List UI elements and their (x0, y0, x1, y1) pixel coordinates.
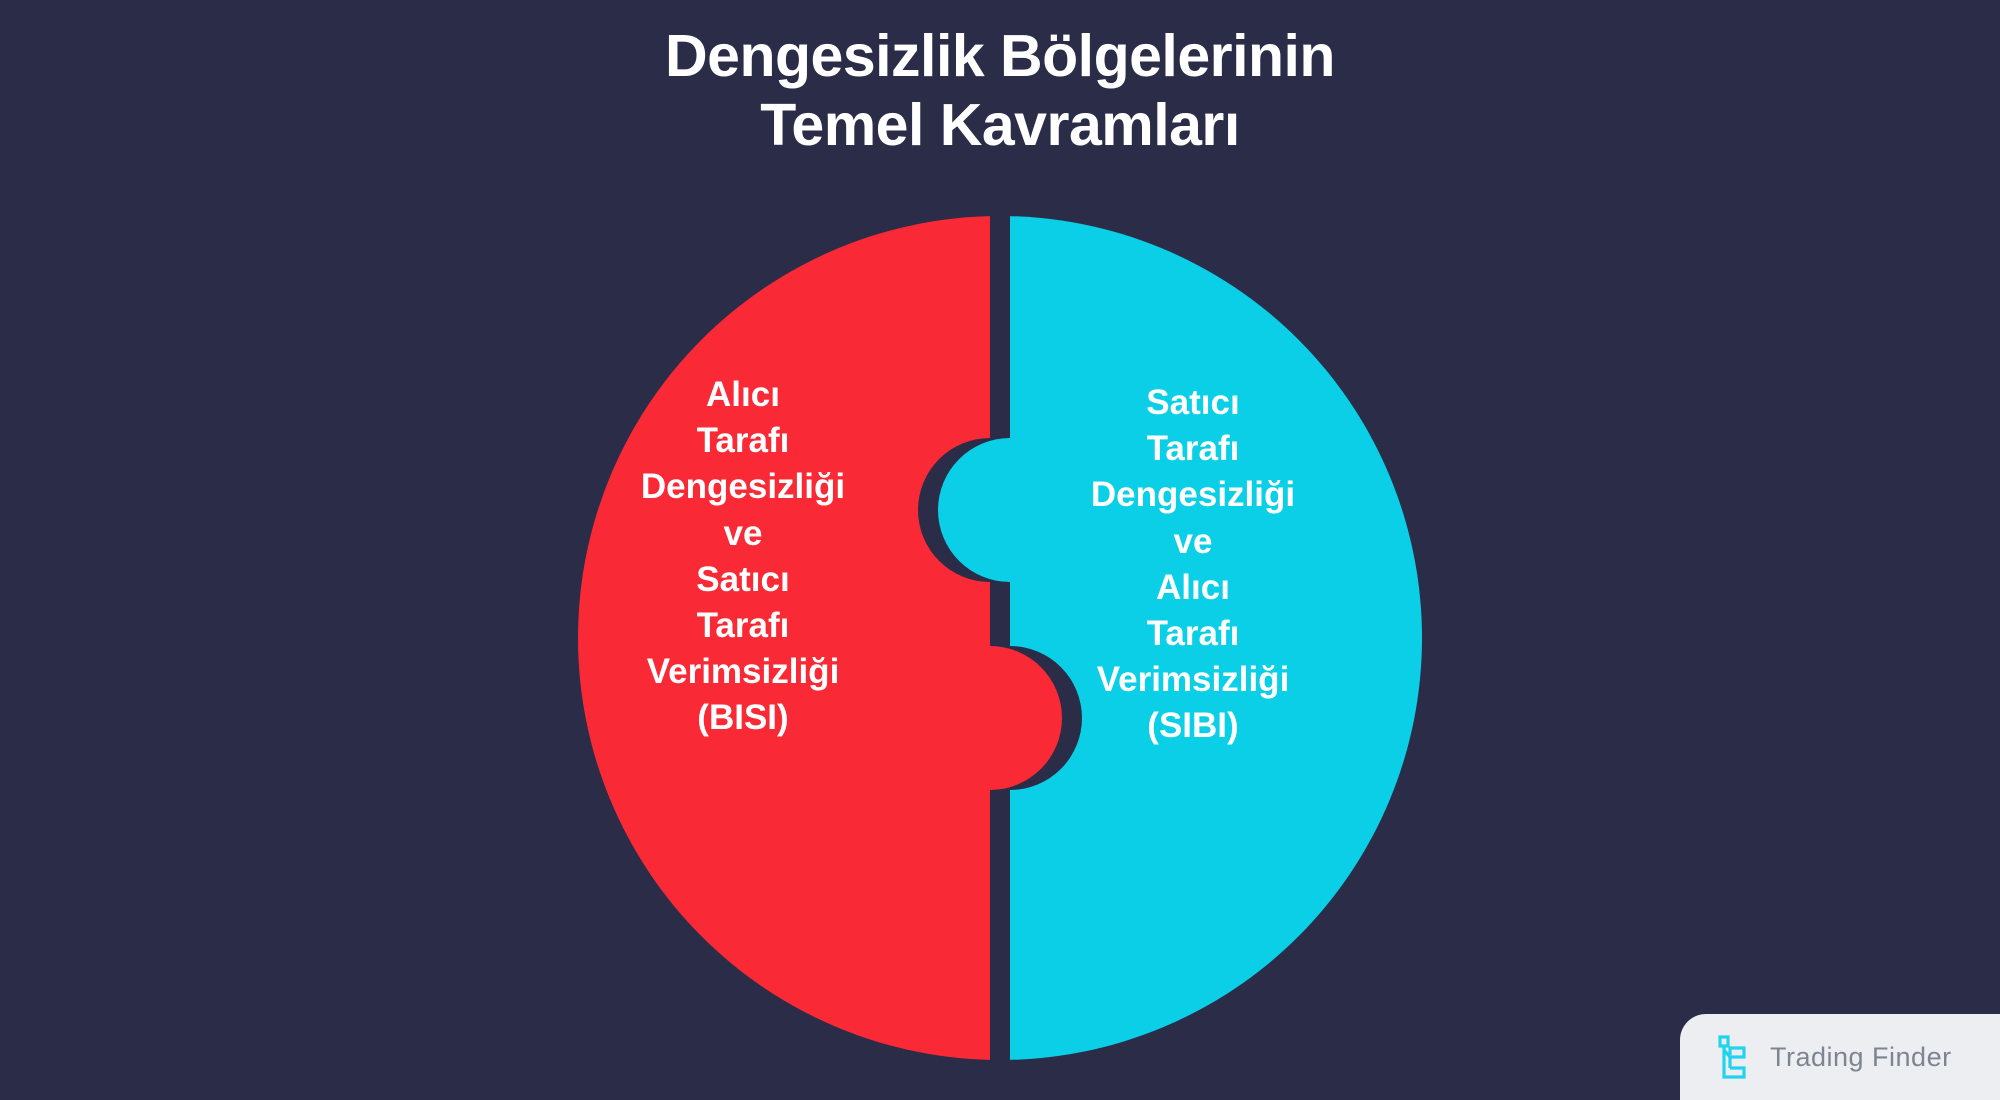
right-label-line-1: Satıcı (1028, 380, 1358, 426)
right-label-line-4: ve (1028, 519, 1358, 565)
left-label-line-6: Tarafı (578, 603, 908, 649)
right-label-line-7: Verimsizliği (1028, 657, 1358, 703)
left-label-line-1: Alıcı (578, 372, 908, 418)
left-label-line-3: Dengesizliği (578, 464, 908, 510)
infographic-canvas: Dengesizlik Bölgelerinin Temel Kavramlar… (0, 0, 2000, 1100)
left-label-line-7: Verimsizliği (578, 649, 908, 695)
brand-watermark: Trading Finder (1680, 1014, 2000, 1100)
right-label-line-3: Dengesizliği (1028, 472, 1358, 518)
right-label-line-2: Tarafı (1028, 426, 1358, 472)
trading-finder-logo-icon (1714, 1034, 1754, 1080)
right-label-line-8: (SIBI) (1028, 703, 1358, 749)
left-label-line-5: Satıcı (578, 557, 908, 603)
left-label-line-2: Tarafı (578, 418, 908, 464)
page-title: Dengesizlik Bölgelerinin Temel Kavramlar… (0, 22, 2000, 160)
right-piece-label: Satıcı Tarafı Dengesizliği ve Alıcı Tara… (1028, 380, 1358, 750)
left-label-line-4: ve (578, 511, 908, 557)
brand-name-label: Trading Finder (1770, 1042, 1952, 1073)
right-label-line-6: Tarafı (1028, 611, 1358, 657)
right-label-line-5: Alıcı (1028, 565, 1358, 611)
left-label-line-8: (BISI) (578, 695, 908, 741)
title-line-2: Temel Kavramları (0, 91, 2000, 160)
left-piece-label: Alıcı Tarafı Dengesizliği ve Satıcı Tara… (578, 372, 908, 742)
title-line-1: Dengesizlik Bölgelerinin (0, 22, 2000, 91)
